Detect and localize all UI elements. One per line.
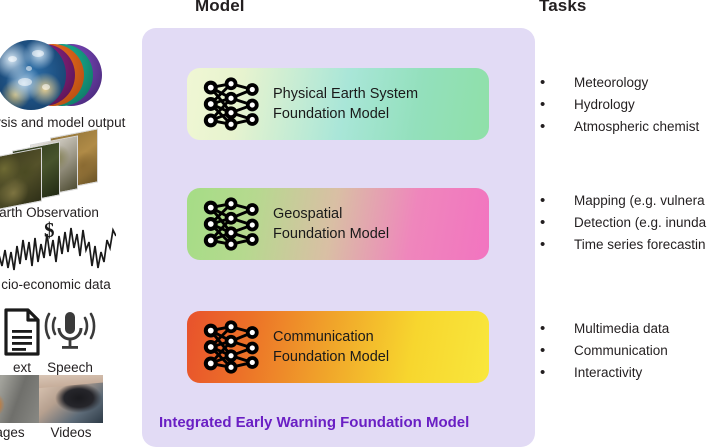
task-label: Mapping (e.g. vulnera	[574, 191, 705, 211]
data-item-label: Videos	[39, 426, 103, 441]
figure-canvas: a Model Tasks ysis and model output	[0, 0, 720, 447]
data-item-socio-economic: $ cio-economic data	[0, 222, 116, 293]
data-item-videos: Videos	[39, 375, 103, 441]
model-box-geospatial[interactable]: Geospatial Foundation Model	[187, 188, 489, 260]
bullet-icon: •	[540, 116, 574, 138]
time-series-line	[0, 222, 116, 284]
task-label: Atmospheric chemist	[574, 117, 699, 137]
bullet-icon: •	[540, 234, 574, 256]
satellite-tiles-icon	[0, 133, 104, 205]
data-item-speech: Speech	[42, 305, 98, 376]
bullet-icon: •	[540, 362, 574, 384]
task-label: Time series forecastin	[574, 235, 706, 255]
task-row: • Mapping (e.g. vulnera	[540, 190, 706, 212]
model-box-label: Geospatial Foundation Model	[273, 204, 389, 244]
model-box-physical-earth-system[interactable]: Physical Earth System Foundation Model	[187, 68, 489, 140]
task-row: • Meteorology	[540, 72, 699, 94]
bullet-icon: •	[540, 318, 574, 340]
column-header-model: Model	[195, 0, 245, 16]
bullet-icon: •	[540, 94, 574, 116]
neural-network-icon	[201, 319, 263, 375]
data-item-images: ages	[0, 375, 42, 441]
bullet-icon: •	[540, 212, 574, 234]
panel-caption: Integrated Early Warning Foundation Mode…	[159, 414, 469, 431]
task-row: • Atmospheric chemist	[540, 116, 699, 138]
task-label: Detection (e.g. inunda	[574, 213, 706, 233]
time-series-dollar-icon: $	[0, 222, 116, 284]
task-group-2: • Mapping (e.g. vulnera • Detection (e.g…	[540, 190, 706, 256]
data-item-label: ysis and model output	[0, 116, 125, 131]
task-row: • Time series forecastin	[540, 234, 706, 256]
task-row: • Hydrology	[540, 94, 699, 116]
model-box-communication[interactable]: Communication Foundation Model	[187, 311, 489, 383]
microphone-icon	[42, 305, 98, 359]
satellite-tile-4	[0, 147, 42, 210]
bullet-icon: •	[540, 340, 574, 362]
task-label: Meteorology	[574, 73, 648, 93]
bullet-icon: •	[540, 72, 574, 94]
task-row: • Detection (e.g. inunda	[540, 212, 706, 234]
photo-thumbnail-icon	[0, 375, 42, 423]
model-box-label: Communication Foundation Model	[273, 327, 389, 367]
column-header-tasks: Tasks	[539, 0, 586, 16]
task-label: Communication	[574, 341, 668, 361]
task-label: Hydrology	[574, 95, 635, 115]
dollar-sign-icon: $	[44, 218, 55, 243]
neural-network-icon	[201, 76, 263, 132]
task-label: Multimedia data	[574, 319, 669, 339]
data-item-earth-observation: arth Observation	[0, 133, 104, 221]
neural-network-icon	[201, 196, 263, 252]
task-row: • Communication	[540, 340, 669, 362]
model-panel: Physical Earth System Foundation Model	[142, 28, 535, 447]
model-box-label: Physical Earth System Foundation Model	[273, 84, 418, 124]
task-label: Interactivity	[574, 363, 642, 383]
data-item-label: ages	[0, 426, 42, 441]
task-row: • Interactivity	[540, 362, 669, 384]
video-thumbnail-icon	[39, 375, 103, 423]
task-row: • Multimedia data	[540, 318, 669, 340]
bullet-icon: •	[540, 190, 574, 212]
task-group-1: • Meteorology • Hydrology • Atmospheric …	[540, 72, 699, 138]
task-group-3: • Multimedia data • Communication • Inte…	[540, 318, 669, 384]
globe-stack-icon	[0, 36, 106, 114]
data-item-reanalysis: ysis and model output	[0, 36, 125, 131]
data-item-label: Speech	[42, 361, 98, 376]
